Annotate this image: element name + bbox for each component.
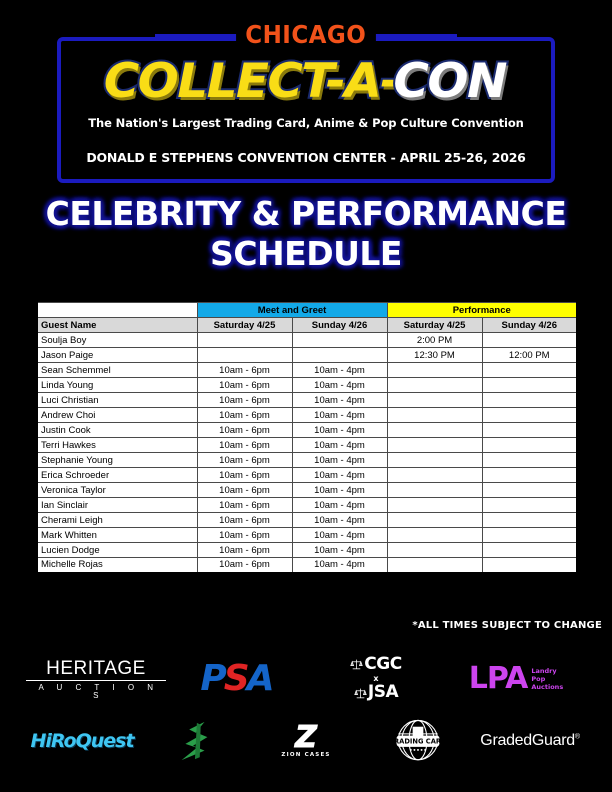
- table-row: Ian Sinclair10am - 6pm10am - 4pm: [37, 498, 577, 513]
- cell-pf-saturday: [387, 363, 482, 378]
- auctions-wordmark: A U C T I O N S: [26, 681, 166, 700]
- table-row: Soulja Boy2:00 PM: [37, 333, 577, 348]
- table-row: Veronica Taylor10am - 6pm10am - 4pm: [37, 483, 577, 498]
- group-header-blank: [37, 303, 197, 318]
- cell-mg-saturday: 10am - 6pm: [197, 378, 292, 393]
- cell-pf-saturday: [387, 423, 482, 438]
- cell-mg-saturday: 10am - 6pm: [197, 498, 292, 513]
- cell-pf-sunday: [482, 393, 577, 408]
- cell-pf-sunday: [482, 378, 577, 393]
- jsa-line: JSA: [350, 684, 401, 702]
- cell-mg-saturday: 10am - 6pm: [197, 468, 292, 483]
- cell-guest-name: Sean Schemmel: [37, 363, 197, 378]
- table-row: Erica Schroeder10am - 6pm10am - 4pm: [37, 468, 577, 483]
- cgc-text: CGC: [364, 656, 401, 674]
- cell-mg-saturday: [197, 348, 292, 363]
- cell-guest-name: Veronica Taylor: [37, 483, 197, 498]
- city-banner: CHICAGO: [0, 22, 612, 47]
- city-rule-right: [367, 34, 457, 39]
- sponsor-row-2: HiRoQuest Z ZION CASES: [0, 710, 612, 772]
- cell-guest-name: Terri Hawkes: [37, 438, 197, 453]
- cell-pf-sunday: [482, 543, 577, 558]
- column-header-mg-sunday: Sunday 4/26: [292, 318, 387, 333]
- lpa-logo: LPA Landry Pop Auctions: [469, 664, 563, 694]
- cell-mg-sunday: 10am - 4pm: [292, 423, 387, 438]
- cell-guest-name: Soulja Boy: [37, 333, 197, 348]
- green-ribbon-icon: [175, 719, 213, 763]
- table-row: Sean Schemmel10am - 6pm10am - 4pm: [37, 363, 577, 378]
- sponsor-row-1: HERITAGE A U C T I O N S PSA: [0, 648, 612, 710]
- schedule-table-body: Soulja Boy2:00 PMJason Paige12:30 PM12:0…: [37, 333, 577, 573]
- zion-cases-wordmark: ZION CASES: [281, 751, 330, 759]
- cell-mg-sunday: 10am - 4pm: [292, 453, 387, 468]
- zion-letter-z: Z: [281, 724, 330, 751]
- cell-mg-saturday: 10am - 6pm: [197, 558, 292, 573]
- trading-card-globe-icon: TRADING CARD: [391, 716, 445, 766]
- page-title-line-1: CELEBRITY & PERFORMANCE: [46, 194, 567, 233]
- cell-mg-sunday: 10am - 4pm: [292, 513, 387, 528]
- city-rule-left: [155, 34, 245, 39]
- lpa-sub-pop: Pop: [531, 675, 545, 683]
- scales-icon: [350, 658, 363, 671]
- cell-mg-saturday: 10am - 6pm: [197, 528, 292, 543]
- schedule-table: Meet and Greet Performance Guest Name Sa…: [36, 302, 578, 574]
- table-row: Michelle Rojas10am - 6pm10am - 4pm: [37, 558, 577, 573]
- jsa-text: JSA: [368, 684, 398, 702]
- times-disclaimer: *ALL TIMES SUBJECT TO CHANGE: [412, 620, 602, 631]
- cell-pf-sunday: [482, 438, 577, 453]
- sponsor-hiroquest: HiRoQuest: [26, 712, 138, 770]
- column-header-guest-name: Guest Name: [37, 318, 197, 333]
- table-row: Andrew Choi10am - 6pm10am - 4pm: [37, 408, 577, 423]
- psa-logo: PSA: [200, 661, 271, 697]
- cell-mg-sunday: 10am - 4pm: [292, 528, 387, 543]
- cell-pf-saturday: [387, 558, 482, 573]
- collect-a-con-logo: COLLECT-A-CON: [0, 58, 612, 105]
- cell-pf-saturday: [387, 483, 482, 498]
- cell-pf-saturday: [387, 498, 482, 513]
- cell-pf-saturday: [387, 378, 482, 393]
- table-row: Justin Cook10am - 6pm10am - 4pm: [37, 423, 577, 438]
- cell-pf-sunday: [482, 423, 577, 438]
- page-title: CELEBRITY & PERFORMANCE SCHEDULE: [0, 194, 612, 275]
- psa-letter-a: A: [247, 658, 272, 699]
- lpa-wordmark: LPA: [469, 664, 528, 694]
- cell-pf-sunday: [482, 513, 577, 528]
- group-header-performance: Performance: [387, 303, 577, 318]
- cell-mg-saturday: 10am - 6pm: [197, 483, 292, 498]
- cell-pf-sunday: [482, 453, 577, 468]
- cell-pf-saturday: 12:30 PM: [387, 348, 482, 363]
- table-row: Cherami Leigh10am - 6pm10am - 4pm: [37, 513, 577, 528]
- heritage-auctions-logo: HERITAGE A U C T I O N S: [26, 659, 166, 700]
- cell-pf-saturday: [387, 513, 482, 528]
- gradedguard-registered-mark: ®: [575, 734, 580, 741]
- sponsor-zion-cases: Z ZION CASES: [250, 712, 362, 770]
- gradedguard-wordmark: GradedGuard: [480, 732, 575, 749]
- cell-mg-sunday: 10am - 4pm: [292, 543, 387, 558]
- scales-icon: [354, 687, 367, 700]
- cell-pf-saturday: [387, 468, 482, 483]
- table-column-header-row: Guest Name Saturday 4/25 Sunday 4/26 Sat…: [37, 318, 577, 333]
- sponsor-psa: PSA: [166, 650, 306, 708]
- cell-mg-sunday: 10am - 4pm: [292, 378, 387, 393]
- cell-mg-saturday: 10am - 6pm: [197, 408, 292, 423]
- table-row: Jason Paige12:30 PM12:00 PM: [37, 348, 577, 363]
- logo-text-con: CON: [393, 58, 506, 105]
- lpa-sub-auctions: Auctions: [531, 683, 563, 691]
- cell-mg-saturday: 10am - 6pm: [197, 363, 292, 378]
- column-header-mg-saturday: Saturday 4/25: [197, 318, 292, 333]
- cell-mg-sunday: 10am - 4pm: [292, 363, 387, 378]
- hiroquest-logo: HiRoQuest: [30, 730, 133, 752]
- logo-text-collect-a: COLLECT-A-: [104, 58, 399, 105]
- cell-guest-name: Luci Christian: [37, 393, 197, 408]
- schedule-table-container: Meet and Greet Performance Guest Name Sa…: [36, 302, 576, 574]
- psa-letter-p: P: [200, 658, 223, 699]
- cell-mg-saturday: 10am - 6pm: [197, 513, 292, 528]
- trading-card-banner-text: TRADING CARD: [391, 738, 445, 746]
- cell-mg-sunday: 10am - 4pm: [292, 468, 387, 483]
- gradedguard-logo: GradedGuard®: [480, 732, 579, 750]
- city-label: CHICAGO: [236, 22, 375, 47]
- cell-mg-saturday: [197, 333, 292, 348]
- cell-mg-sunday: 10am - 4pm: [292, 438, 387, 453]
- sponsor-heritage-auctions: HERITAGE A U C T I O N S: [26, 650, 166, 708]
- lpa-subtext: Landry Pop Auctions: [531, 667, 563, 691]
- sponsor-green-ribbon: [138, 712, 250, 770]
- cell-mg-sunday: [292, 348, 387, 363]
- table-row: Stephanie Young10am - 6pm10am - 4pm: [37, 453, 577, 468]
- cell-pf-sunday: [482, 528, 577, 543]
- cell-pf-sunday: [482, 333, 577, 348]
- cell-pf-saturday: [387, 453, 482, 468]
- lpa-sub-landry: Landry: [531, 667, 556, 675]
- heritage-wordmark: HERITAGE: [26, 659, 166, 681]
- cell-mg-saturday: 10am - 6pm: [197, 423, 292, 438]
- cell-mg-saturday: 10am - 6pm: [197, 438, 292, 453]
- cell-mg-sunday: 10am - 4pm: [292, 498, 387, 513]
- table-row: Linda Young10am - 6pm10am - 4pm: [37, 378, 577, 393]
- cell-pf-saturday: [387, 543, 482, 558]
- cell-guest-name: Mark Whitten: [37, 528, 197, 543]
- cell-mg-saturday: 10am - 6pm: [197, 543, 292, 558]
- venue-and-date: DONALD E STEPHENS CONVENTION CENTER - AP…: [0, 150, 612, 165]
- cell-guest-name: Justin Cook: [37, 423, 197, 438]
- cell-guest-name: Andrew Choi: [37, 408, 197, 423]
- cgc-line: CGC: [350, 656, 401, 674]
- cell-pf-sunday: [482, 468, 577, 483]
- cell-pf-sunday: [482, 483, 577, 498]
- cell-mg-sunday: [292, 333, 387, 348]
- cell-mg-sunday: 10am - 4pm: [292, 558, 387, 573]
- cell-mg-saturday: 10am - 6pm: [197, 393, 292, 408]
- cell-guest-name: Jason Paige: [37, 348, 197, 363]
- cell-mg-sunday: 10am - 4pm: [292, 483, 387, 498]
- zion-cases-logo: Z ZION CASES: [281, 724, 330, 759]
- cell-pf-saturday: [387, 408, 482, 423]
- page-title-line-2: SCHEDULE: [0, 234, 612, 274]
- cell-pf-saturday: [387, 393, 482, 408]
- sponsor-trading-card: TRADING CARD: [362, 712, 474, 770]
- table-row: Lucien Dodge10am - 6pm10am - 4pm: [37, 543, 577, 558]
- column-header-pf-saturday: Saturday 4/25: [387, 318, 482, 333]
- cell-guest-name: Lucien Dodge: [37, 543, 197, 558]
- cgc-jsa-logo: CGC x JSA: [350, 656, 401, 702]
- sponsor-cgc-x-jsa: CGC x JSA: [306, 650, 446, 708]
- cell-guest-name: Linda Young: [37, 378, 197, 393]
- cell-guest-name: Michelle Rojas: [37, 558, 197, 573]
- cell-mg-sunday: 10am - 4pm: [292, 408, 387, 423]
- table-row: Luci Christian10am - 6pm10am - 4pm: [37, 393, 577, 408]
- table-group-header-row: Meet and Greet Performance: [37, 303, 577, 318]
- cell-mg-sunday: 10am - 4pm: [292, 393, 387, 408]
- psa-letter-s: S: [224, 658, 247, 699]
- cell-guest-name: Erica Schroeder: [37, 468, 197, 483]
- sponsor-lpa: LPA Landry Pop Auctions: [446, 650, 586, 708]
- header-banner: CHICAGO COLLECT-A-CON The Nation's Large…: [0, 0, 612, 190]
- table-row: Mark Whitten10am - 6pm10am - 4pm: [37, 528, 577, 543]
- cell-pf-sunday: [482, 363, 577, 378]
- cell-pf-saturday: [387, 438, 482, 453]
- cell-guest-name: Stephanie Young: [37, 453, 197, 468]
- cell-guest-name: Ian Sinclair: [37, 498, 197, 513]
- cell-pf-sunday: [482, 498, 577, 513]
- cell-pf-sunday: 12:00 PM: [482, 348, 577, 363]
- cell-mg-saturday: 10am - 6pm: [197, 453, 292, 468]
- cell-guest-name: Cherami Leigh: [37, 513, 197, 528]
- cell-pf-saturday: [387, 528, 482, 543]
- cell-pf-sunday: [482, 408, 577, 423]
- group-header-meet-and-greet: Meet and Greet: [197, 303, 387, 318]
- table-row: Terri Hawkes10am - 6pm10am - 4pm: [37, 438, 577, 453]
- sponsor-logos: HERITAGE A U C T I O N S PSA: [0, 648, 612, 772]
- logo-tagline: The Nation's Largest Trading Card, Anime…: [0, 116, 612, 130]
- cell-pf-saturday: 2:00 PM: [387, 333, 482, 348]
- sponsor-gradedguard: GradedGuard®: [474, 712, 586, 770]
- column-header-pf-sunday: Sunday 4/26: [482, 318, 577, 333]
- cell-pf-sunday: [482, 558, 577, 573]
